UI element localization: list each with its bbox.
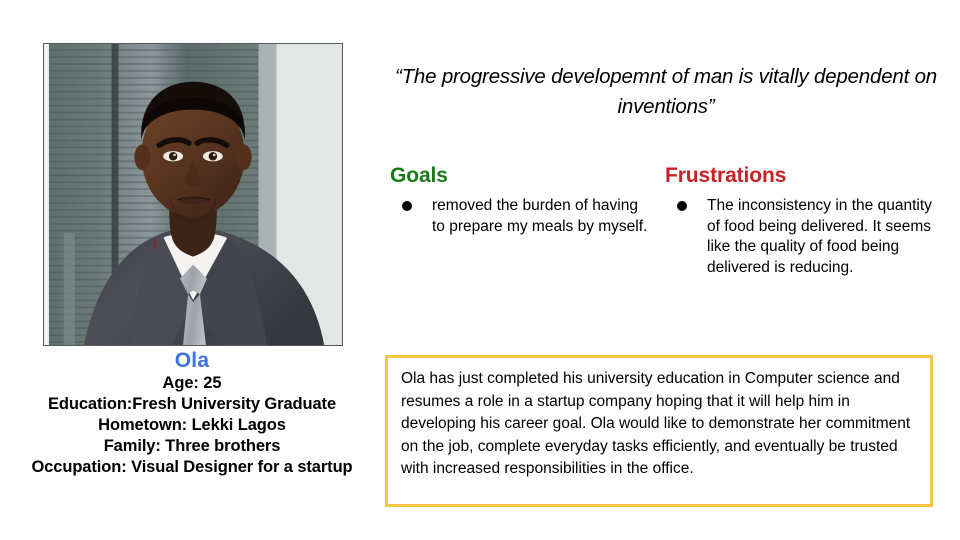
persona-right-column: “The progressive developemnt of man is v… [380, 0, 960, 540]
persona-detail-family: Family: Three brothers [8, 436, 376, 457]
bullet-icon [677, 201, 687, 211]
frustrations-item-text: The inconsistency in the quantity of foo… [707, 197, 932, 276]
persona-detail-occupation: Occupation: Visual Designer for a startu… [8, 457, 376, 478]
persona-name: Ola [8, 348, 376, 373]
bullet-icon [402, 201, 412, 211]
goals-section: Goals removed the burden of having to pr… [390, 163, 650, 237]
goals-list-item: removed the burden of having to prepare … [390, 196, 650, 237]
persona-detail-age: Age: 25 [8, 373, 376, 394]
frustrations-section: Frustrations The inconsistency in the qu… [665, 163, 940, 278]
persona-detail-hometown: Hometown: Lekki Lagos [8, 415, 376, 436]
goals-item-text: removed the burden of having to prepare … [432, 197, 647, 235]
persona-left-column: Ola Age: 25 Education:Fresh University G… [0, 0, 380, 540]
goals-heading: Goals [390, 163, 650, 189]
frustrations-heading: Frustrations [665, 163, 940, 189]
goals-list: removed the burden of having to prepare … [390, 196, 650, 237]
persona-detail-education: Education:Fresh University Graduate [8, 394, 376, 415]
frustrations-list: The inconsistency in the quantity of foo… [665, 196, 940, 278]
persona-bio-text: Ola has just completed his university ed… [401, 368, 921, 481]
headshot-image [44, 44, 342, 345]
persona-bio-box: Ola has just completed his university ed… [385, 355, 933, 507]
persona-quote: “The progressive developemnt of man is v… [390, 62, 942, 122]
persona-profile-info: Ola Age: 25 Education:Fresh University G… [8, 348, 376, 478]
frustrations-list-item: The inconsistency in the quantity of foo… [665, 196, 940, 278]
persona-photo [43, 43, 343, 346]
goals-frustrations-columns: Goals removed the burden of having to pr… [380, 163, 960, 343]
